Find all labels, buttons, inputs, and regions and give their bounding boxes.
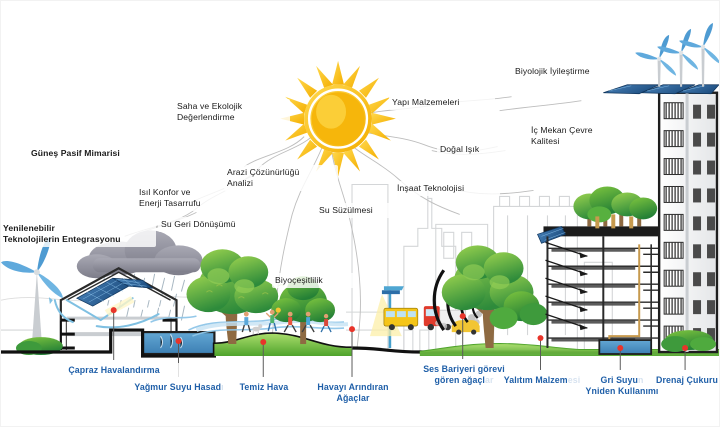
marker-drenaj-dot [682, 345, 688, 351]
marker-yalitim-dot [537, 335, 543, 341]
infographic-canvas: Güneş Pasif MimarisiYenilenebilir Teknol… [0, 0, 720, 427]
concept-label-saha-ve-ekolojik-degerlendirme: Saha ve Ekolojik Değerlendirme [177, 101, 287, 123]
feature-label-capraz-havalandirma: Çapraz Havalandırma [48, 365, 180, 376]
concept-label-biyolojik-iyilestirme: Biyolojik İyileştirme [515, 66, 630, 77]
feature-label-havayi-arindiran-agaclar: Havayı Arındıran Ağaçlar [301, 382, 405, 404]
concept-label-biyocesitlilik: Biyoçeşitlilik [275, 275, 353, 286]
concept-label-gunes-pasif-mimarisi: Güneş Pasif Mimarisi [31, 148, 151, 159]
concept-label-insaat-teknolojisi: İnşaat Teknolojisi [397, 183, 497, 194]
marker-gri-su-dot [617, 345, 623, 351]
concept-label-yapi-malzemeleri: Yapı Malzemeleri [392, 97, 492, 108]
marker-ses-bariyeri-dot [460, 313, 466, 319]
concept-label-yenilenebilir-teknolojiler: Yenilenebilir Teknolojilerin Entegrasyon… [3, 223, 153, 245]
wind-turbine-icon [1, 236, 63, 344]
solar-panel-icon [603, 85, 719, 94]
wind-turbine-icon [635, 23, 719, 87]
concept-label-ic-mekan-cevre-kalitesi: İç Mekan Çevre Kalitesi [531, 125, 631, 147]
marker-yagmur-suyu-dot [176, 338, 182, 344]
bus-icon [384, 308, 418, 330]
sun-icon [280, 61, 396, 177]
feature-label-drenaj-cukuru: Drenaj Çukuru [641, 375, 720, 386]
marker-havayi-arindiran-dot [349, 326, 355, 332]
marker-temiz-hava-dot [260, 339, 266, 345]
marker-capraz-havalandirma-dot [111, 307, 117, 313]
concept-label-su-geri-donusumu: Su Geri Dönüşümü [161, 219, 271, 230]
building-section-icon [537, 186, 661, 354]
concept-label-arazi-cozunurlugu-analizi: Arazi Çözünürlüğü Analizi [227, 167, 335, 189]
concept-label-dogal-isik: Doğal Işık [440, 144, 504, 155]
feature-label-temiz-hava: Temiz Hava [224, 382, 304, 393]
louvre-windows [664, 103, 683, 342]
concept-label-su-suzulmesi: Su Süzülmesi [319, 205, 399, 216]
